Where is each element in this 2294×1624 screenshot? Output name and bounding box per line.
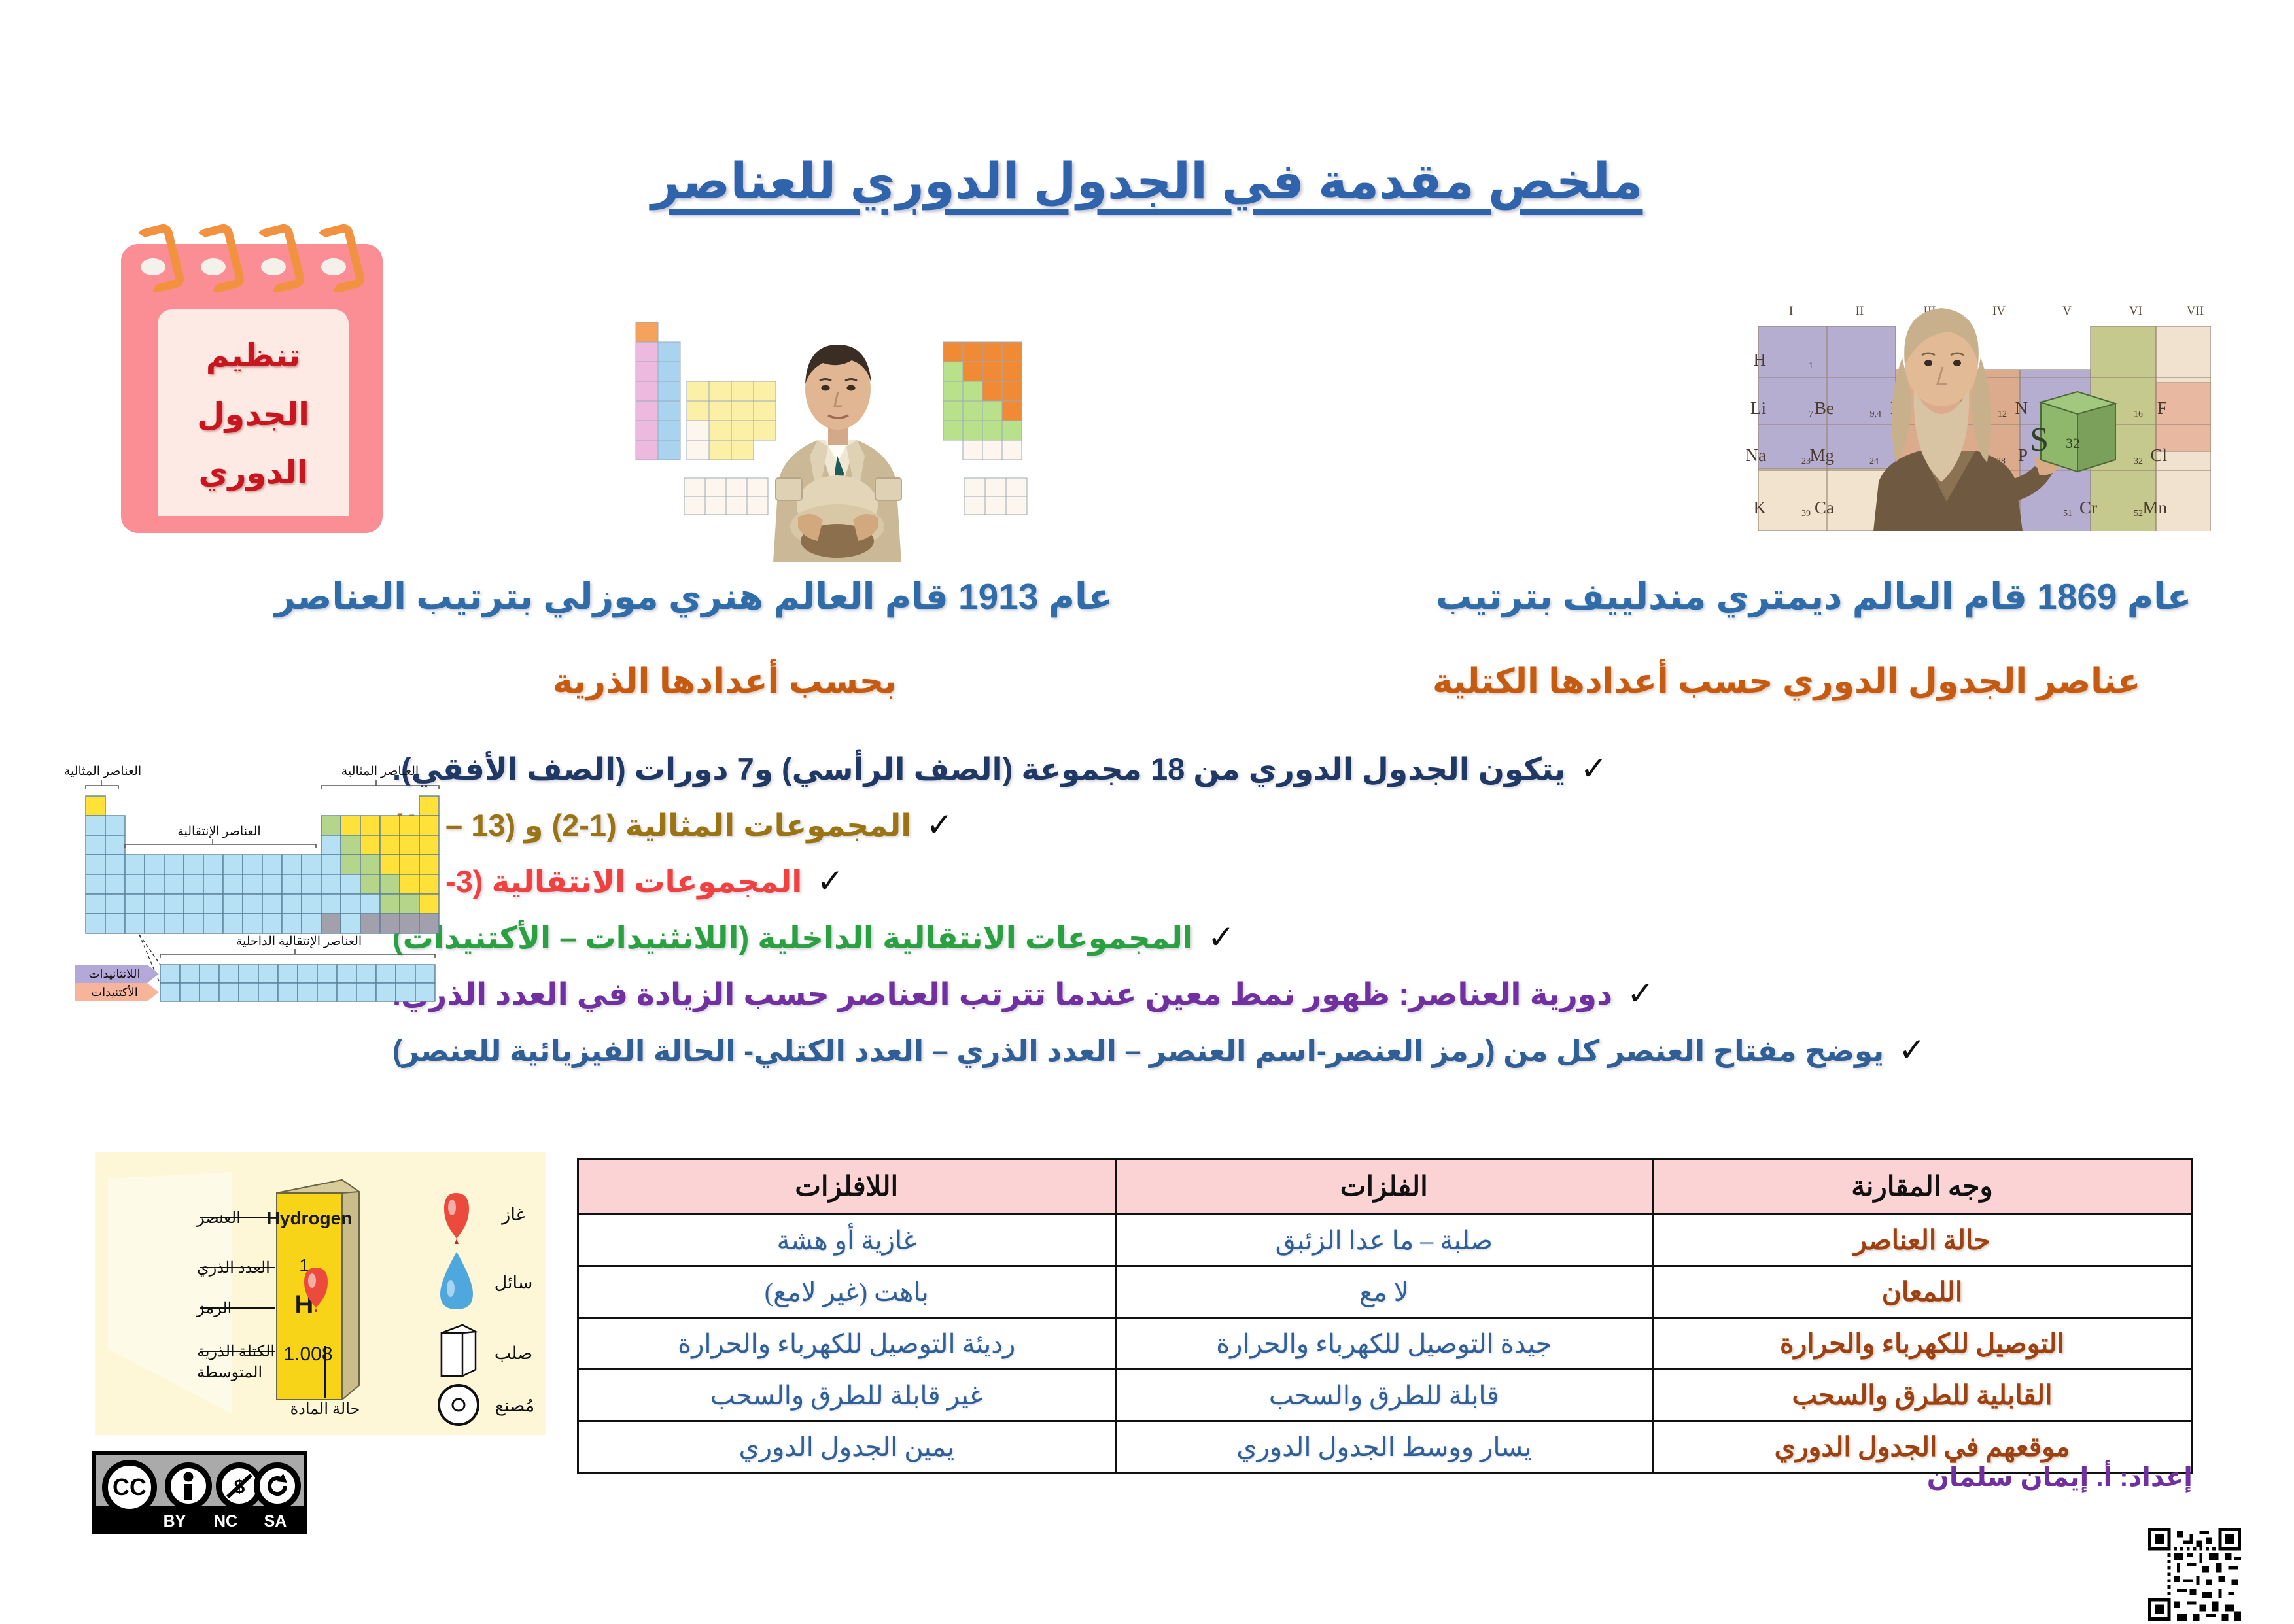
svg-text:Li: Li: [1750, 398, 1766, 418]
svg-text:F: F: [2157, 398, 2167, 418]
svg-text:9,4: 9,4: [1870, 409, 1882, 419]
svg-text:Mg: Mg: [1809, 445, 1834, 465]
notepad-paper: تنظيم الجدول الدوري: [158, 309, 349, 516]
svg-text:1: 1: [1809, 361, 1813, 371]
mendeleev-portrait-image: IIIIII IVVVI VII H1: [1745, 286, 2211, 531]
svg-text:Cr: Cr: [2079, 498, 2097, 517]
svg-text:IV: IV: [1992, 304, 2006, 318]
license-term-nc: NC: [207, 1512, 245, 1531]
svg-text:العناصر المثالية: العناصر المثالية: [64, 765, 141, 778]
label-atomic-mass-1: الكتلة الذرية: [197, 1343, 275, 1360]
moseley-portrait-image: [621, 285, 1034, 562]
mendeleev-line-2: عناصر الجدول الدوري حسب أعدادها الكتلية: [1433, 662, 2140, 701]
check-icon: ✓: [926, 808, 953, 841]
svg-text:24: 24: [1869, 457, 1879, 466]
notepad-line-1: تنظيم: [206, 340, 301, 372]
cell-aspect: حالة العناصر: [1653, 1215, 2192, 1266]
notepad-ring-cap: [141, 258, 165, 275]
check-icon: ✓: [1627, 977, 1654, 1010]
svg-text:II: II: [1856, 304, 1864, 318]
svg-text:7: 7: [1809, 409, 1813, 419]
check-icon: ✓: [1898, 1033, 1926, 1066]
svg-text:العناصر الإنتقالية: العناصر الإنتقالية: [177, 825, 260, 838]
svg-text:I: I: [1789, 304, 1793, 318]
qr-code[interactable]: [2148, 1528, 2241, 1621]
label-atomic-number: العدد الذري: [197, 1260, 270, 1277]
element-name-text: Hydrogen: [267, 1208, 353, 1228]
share-alike-icon: [254, 1462, 301, 1510]
svg-text:51: 51: [2063, 509, 2072, 519]
svg-text:H: H: [1754, 350, 1767, 370]
legend-liquid: سائل: [495, 1273, 533, 1292]
label-element: العنصر: [196, 1210, 241, 1227]
check-icon: ✓: [1580, 752, 1608, 785]
table-row: حالة العناصر صلبة – ما عدا الزئبق غازية …: [578, 1215, 2192, 1266]
check-icon: ✓: [816, 865, 844, 897]
svg-text:الأكتنيدات: الأكتنيدات: [91, 984, 138, 999]
person-icon: [165, 1462, 212, 1510]
author-credit: إعداد: أ. إيمان سلمان: [1927, 1462, 2193, 1493]
cell-metals: صلبة – ما عدا الزئبق: [1115, 1215, 1653, 1266]
synthetic-disc-icon: [439, 1385, 478, 1425]
svg-text:12: 12: [1998, 409, 2007, 419]
column-header-metals: الفلزات: [1115, 1159, 1653, 1215]
label-state-of-matter: حالة المادة: [290, 1401, 360, 1418]
svg-text:16: 16: [2134, 409, 2143, 419]
label-symbol: الرمز: [196, 1300, 232, 1317]
periodic-table-structure-diagram: العناصر المثالية العناصر المثالية العناص…: [62, 749, 716, 1037]
mendeleev-line-1: عام 1869 قام العالم ديمتري مندلييف بترتي…: [1436, 576, 2191, 617]
svg-text:Ca: Ca: [1815, 498, 1834, 517]
svg-text:اللانثانيدات: اللانثانيدات: [89, 967, 141, 980]
svg-text:32: 32: [2066, 435, 2080, 451]
check-icon: ✓: [1208, 921, 1235, 954]
cc-icon: CC: [102, 1460, 157, 1515]
cell-metals: قابلة للطرق والسحب: [1115, 1370, 1653, 1421]
label-atomic-mass-2: المتوسطة: [197, 1364, 262, 1381]
svg-text:39: 39: [1801, 509, 1811, 519]
svg-text:52: 52: [2134, 509, 2143, 519]
moseley-line-2: بحسب أعدادها الذرية: [553, 662, 897, 701]
cell-metals: لا مع: [1115, 1266, 1653, 1318]
organization-notepad: تنظيم الجدول الدوري: [121, 226, 383, 533]
notepad-ring-cap: [261, 258, 286, 275]
svg-text:العناصر المثالية: العناصر المثالية: [341, 765, 419, 778]
cell-metals: يسار ووسط الجدول الدوري: [1115, 1421, 1653, 1473]
table-row: القابلية للطرق والسحب قابلة للطرق والسحب…: [578, 1370, 2192, 1421]
notepad-line-2: الجدول: [197, 399, 309, 431]
legend-synthetic: مُصنع: [495, 1396, 534, 1416]
column-header-nonmetals: اللافلزات: [578, 1159, 1116, 1215]
cell-nonmetals: غازية أو هشة: [578, 1215, 1116, 1266]
svg-text:K: K: [1754, 498, 1767, 517]
cell-aspect: التوصيل للكهرباء والحرارة: [1653, 1318, 2192, 1370]
svg-text:S: S: [2030, 421, 2049, 458]
svg-text:N: N: [2015, 398, 2028, 418]
svg-text:Mn: Mn: [2142, 498, 2167, 517]
cell-nonmetals: غير قابلة للطرق والسحب: [578, 1370, 1116, 1421]
svg-text:V: V: [2062, 304, 2072, 318]
cube-icon: [442, 1325, 476, 1376]
moseley-line-1: عام 1913 قام العالم هنري موزلي بترتيب ال…: [275, 576, 1113, 617]
legend-solid: صلب: [495, 1343, 532, 1363]
list-item-text: يوضح مفتاح العنصر كل من (رمز العنصر-اسم …: [392, 1035, 1884, 1067]
cell-metals: جيدة التوصيل للكهرباء والحرارة: [1115, 1318, 1653, 1370]
svg-text:Be: Be: [1815, 398, 1834, 418]
svg-text:العناصر الإنتقالية الداخلية: العناصر الإنتقالية الداخلية: [236, 935, 362, 948]
column-header-aspect: وجه المقارنة: [1653, 1159, 2192, 1215]
table-header-row: وجه المقارنة الفلزات اللافلزات: [578, 1159, 2192, 1215]
cell-nonmetals: رديئة التوصيل للكهرباء والحرارة: [578, 1318, 1116, 1370]
svg-text:Na: Na: [1746, 445, 1766, 465]
svg-text:VII: VII: [2187, 304, 2204, 318]
notepad-line-3: الدوري: [198, 457, 307, 489]
cell-nonmetals: باهت (غير لامع): [578, 1266, 1116, 1318]
notepad-ring-cap: [321, 258, 346, 275]
metals-nonmetals-comparison-table: وجه المقارنة الفلزات اللافلزات حالة العن…: [577, 1158, 2193, 1474]
svg-text:32: 32: [2134, 457, 2143, 466]
svg-text:Cl: Cl: [2150, 445, 2167, 465]
svg-text:P: P: [2018, 445, 2028, 465]
legend-gas: غاز: [500, 1205, 525, 1225]
page-title: ملخص مقدمة في الجدول الدوري للعناصر: [0, 152, 2294, 210]
element-key-diagram: Hydrogen 1 H 1.008 العنصر العدد الذري ال…: [95, 1152, 546, 1435]
list-item: ✓ يوضح مفتاح العنصر كل من (رمز العنصر-اس…: [392, 1033, 2217, 1084]
notepad-ring-cap: [201, 258, 226, 275]
cell-nonmetals: يمين الجدول الدوري: [578, 1421, 1116, 1473]
table-row: التوصيل للكهرباء والحرارة جيدة التوصيل ل…: [578, 1318, 2192, 1370]
license-term-sa: SA: [256, 1512, 294, 1531]
svg-text:VI: VI: [2129, 304, 2142, 318]
cell-aspect: اللمعان: [1653, 1266, 2192, 1318]
table-row: اللمعان لا مع باهت (غير لامع): [578, 1266, 2192, 1318]
cell-aspect: القابلية للطرق والسحب: [1653, 1370, 2192, 1421]
cc-by-nc-sa-badge: CC $ BY NC SA: [92, 1451, 307, 1534]
license-term-by: BY: [156, 1512, 194, 1531]
